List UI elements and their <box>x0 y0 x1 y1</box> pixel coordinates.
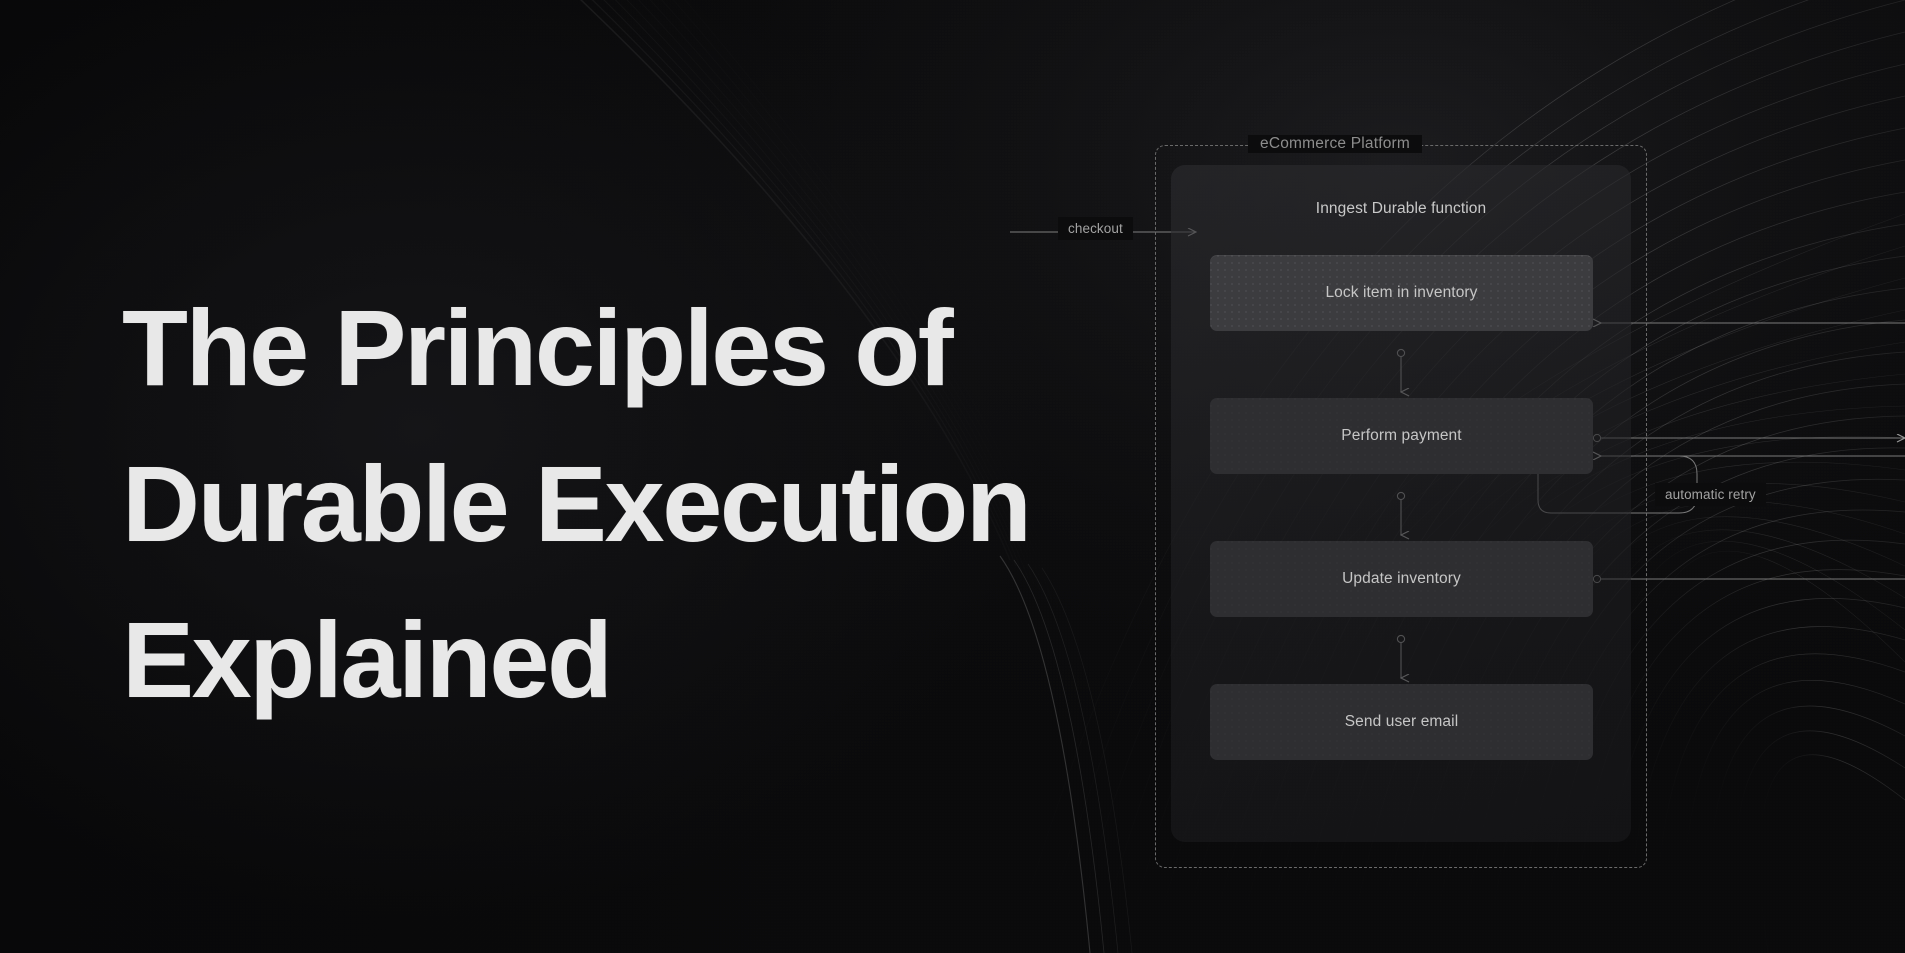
hero-banner: The Principles of Durable Execution Expl… <box>0 0 1905 953</box>
step-lock-item-in-inventory[interactable]: Lock item in inventory <box>1210 255 1593 331</box>
step-label: Lock item in inventory <box>1325 284 1477 302</box>
page-title-line-3: Explained <box>122 582 1102 738</box>
page-title-line-1: The Principles of <box>122 270 1102 426</box>
step-perform-payment[interactable]: Perform payment <box>1210 398 1593 474</box>
edge-label-checkout: checkout <box>1058 217 1133 240</box>
page-title-line-2: Durable Execution <box>122 426 1102 582</box>
step-label: Send user email <box>1345 713 1459 731</box>
durable-function-title: Inngest Durable function <box>1171 200 1631 218</box>
step-update-inventory[interactable]: Update inventory <box>1210 541 1593 617</box>
edge-label-automatic-retry: automatic retry <box>1655 483 1766 506</box>
page-title: The Principles of Durable Execution Expl… <box>122 270 1102 738</box>
step-label: Perform payment <box>1341 427 1461 445</box>
step-send-user-email[interactable]: Send user email <box>1210 684 1593 760</box>
step-label: Update inventory <box>1342 570 1461 588</box>
platform-label: eCommerce Platform <box>1248 135 1422 153</box>
